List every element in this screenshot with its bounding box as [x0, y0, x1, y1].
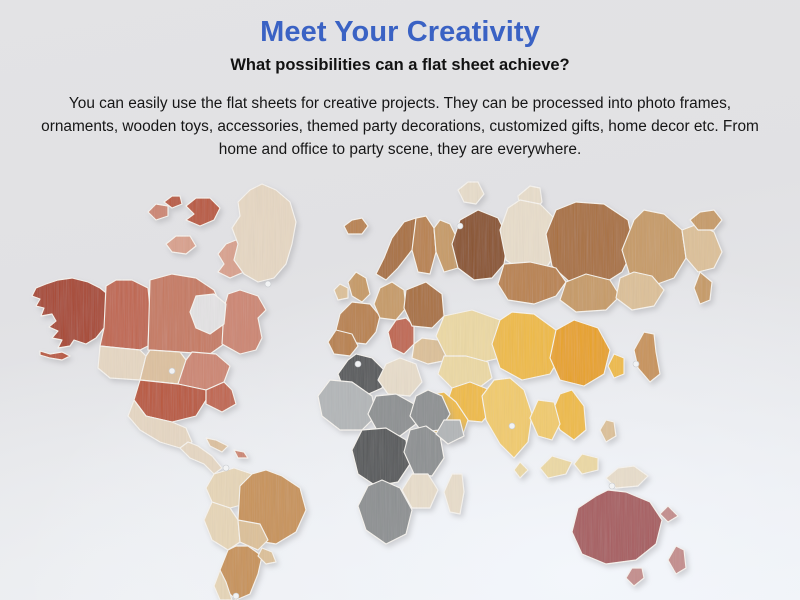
piece-greenland [232, 184, 296, 282]
region-asia [420, 310, 660, 488]
piece-tasmania [626, 568, 644, 586]
page-root: Meet Your Creativity What possibilities … [0, 0, 800, 600]
piece-russia-northwest [452, 210, 508, 280]
piece-libya-egypt [378, 358, 422, 396]
piece-ellesmere-island [186, 198, 220, 226]
piece-ukraine-belarus [404, 282, 444, 328]
mounting-pin [509, 423, 515, 429]
mounting-pin [457, 223, 463, 229]
piece-canada-east [222, 290, 266, 354]
mounting-pin [169, 368, 175, 374]
piece-arctic-islet-a [148, 204, 168, 220]
piece-indonesia-borneo [574, 454, 598, 474]
piece-china-east [550, 320, 610, 386]
region-oceania [572, 490, 686, 586]
piece-aleutians [40, 351, 70, 360]
piece-russia-far-east [682, 224, 722, 272]
page-subtitle: What possibilities can a flat sheet achi… [0, 54, 800, 76]
piece-victoria-island [166, 236, 196, 254]
piece-svalbard [458, 182, 484, 204]
piece-new-zealand [668, 546, 686, 574]
piece-philippines [600, 420, 616, 442]
piece-ireland [334, 284, 348, 300]
piece-japan [634, 332, 660, 382]
text-block: Meet Your Creativity What possibilities … [0, 0, 800, 161]
mounting-pin [265, 281, 271, 287]
mounting-pin [609, 483, 615, 489]
piece-china-west [492, 312, 562, 380]
piece-central-africa [352, 428, 410, 486]
piece-uk [348, 272, 370, 302]
piece-madagascar [444, 474, 464, 514]
mounting-pin [633, 361, 639, 367]
piece-sri-lanka [514, 462, 528, 478]
piece-indonesia-sumatra [540, 456, 572, 478]
mounting-pin [233, 593, 239, 599]
mounting-pin [355, 361, 361, 367]
piece-kamchatka [694, 272, 712, 304]
piece-cuba [206, 438, 228, 452]
page-title: Meet Your Creativity [0, 14, 800, 50]
region-north-america [32, 184, 296, 474]
piece-russia-south-central [498, 262, 566, 304]
piece-india [482, 378, 532, 458]
region-south-america [204, 468, 306, 600]
mounting-pin [223, 465, 229, 471]
piece-indochina [530, 400, 560, 440]
region-africa [318, 354, 464, 544]
piece-iceland [344, 218, 368, 234]
piece-usa-west [98, 346, 146, 380]
piece-italy-balkans [388, 318, 414, 354]
description-paragraph: You can easily use the flat sheets for c… [30, 92, 770, 161]
piece-hispaniola [234, 450, 248, 458]
wooden-world-map-image [0, 168, 800, 600]
piece-canada-west [100, 280, 150, 350]
piece-new-caledonia [660, 506, 678, 522]
piece-alaska [32, 278, 112, 348]
piece-sweden [412, 216, 436, 274]
region-russia-siberia [452, 182, 722, 312]
piece-peru-ecuador [204, 502, 240, 550]
piece-australia [572, 490, 662, 564]
piece-germany-poland [374, 282, 406, 320]
piece-korea [608, 354, 624, 378]
world-map-svg [0, 168, 800, 600]
